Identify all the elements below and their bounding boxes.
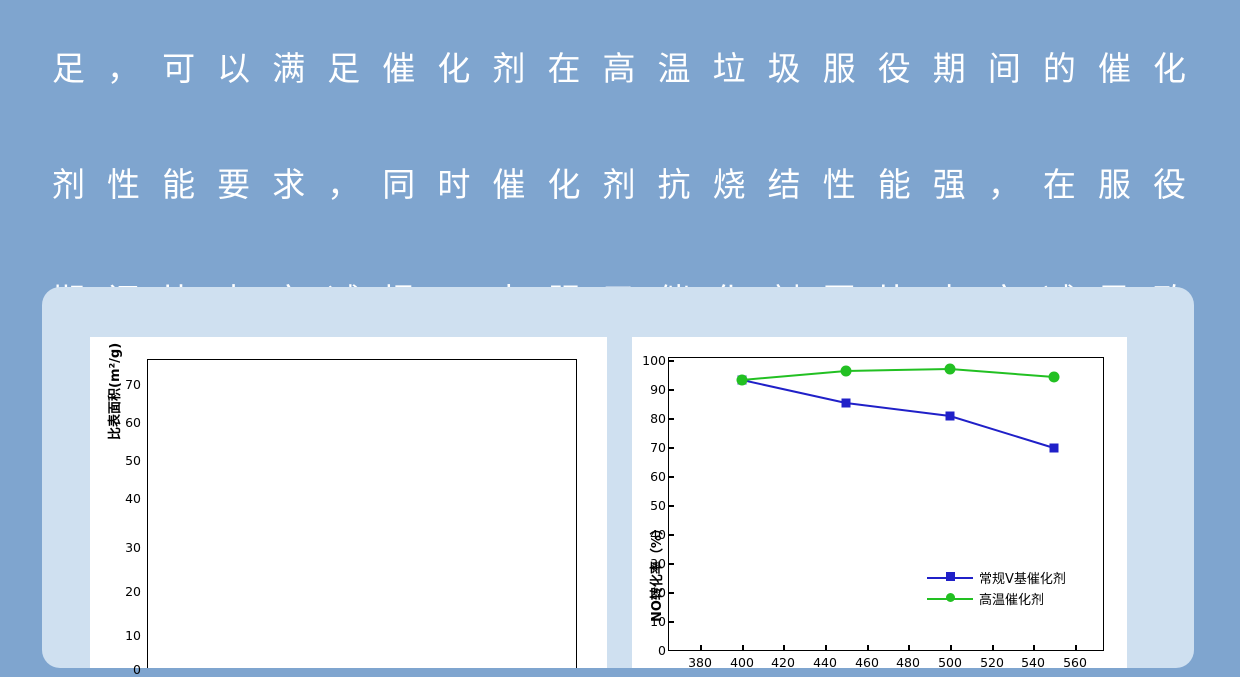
line-xtick-mark-480	[908, 645, 910, 651]
bar-ytick-20: 20	[115, 584, 141, 599]
line-ytick-40: 40	[642, 527, 666, 542]
line-xtick-mark-520	[992, 645, 994, 651]
line-xtick-mark-540	[1033, 645, 1035, 651]
line-ytick-100: 100	[642, 353, 666, 368]
line-tick-mark-40	[668, 534, 674, 536]
line-tick-mark-30	[668, 563, 674, 565]
line-ytick-10: 10	[642, 614, 666, 629]
line-ytick-20: 20	[642, 585, 666, 600]
line-xtick-mark-400	[742, 645, 744, 651]
line-ytick-80: 80	[642, 411, 666, 426]
legend-label-high-temp: 高温催化剂	[979, 589, 1044, 608]
line-tick-mark-100	[668, 360, 674, 362]
bar-ytick-40: 40	[115, 491, 141, 506]
legend-marker-square-icon	[946, 572, 955, 581]
legend-row-high-temp: 高温催化剂	[927, 589, 1102, 610]
line-tick-mark-20	[668, 592, 674, 594]
line-ytick-90: 90	[642, 382, 666, 397]
bar-chart-plot-frame	[147, 359, 577, 668]
paragraph-line-1: 足，可以满足催化剂在高温垃圾服役期间的催化	[0, 40, 1240, 98]
line-chart-legend: 常规V基催化剂 高温催化剂	[927, 568, 1102, 610]
line-tick-mark-50	[668, 505, 674, 507]
bar-chart-y-axis-label: 比表面积(m²/g)	[104, 240, 123, 440]
line-ytick-50: 50	[642, 498, 666, 513]
line-tick-mark-10	[668, 621, 674, 623]
bar-ytick-50: 50	[115, 453, 141, 468]
line-xtick-mark-500	[950, 645, 952, 651]
line-xtick-mark-420	[783, 645, 785, 651]
bar-ytick-10: 10	[115, 628, 141, 643]
line-tick-mark-90	[668, 389, 674, 391]
bar-ytick-70: 70	[115, 377, 141, 392]
line-xtick-mark-380	[700, 645, 702, 651]
bar-ytick-60: 60	[115, 415, 141, 430]
legend-marker-circle-icon	[946, 593, 955, 602]
line-tick-mark-80	[668, 418, 674, 420]
legend-row-regular: 常规V基催化剂	[927, 568, 1102, 589]
page-root: 足，可以满足催化剂在高温垃圾服役期间的催化 剂性能要求，同时催化剂抗烧结性能强，…	[0, 0, 1240, 668]
line-xtick-mark-440	[825, 645, 827, 651]
legend-label-regular: 常规V基催化剂	[979, 568, 1066, 587]
line-xtick-mark-460	[867, 645, 869, 651]
line-ytick-60: 60	[642, 469, 666, 484]
bar-ytick-0: 0	[115, 662, 141, 677]
line-ytick-30: 30	[642, 556, 666, 571]
bar-ytick-30: 30	[115, 540, 141, 555]
line-ytick-0: 0	[642, 643, 666, 658]
paragraph-line-2: 剂性能要求，同时催化剂抗烧结性能强，在服役	[0, 156, 1240, 214]
line-tick-mark-60	[668, 476, 674, 478]
line-xtick-mark-560	[1075, 645, 1077, 651]
line-ytick-70: 70	[642, 440, 666, 455]
line-tick-mark-70	[668, 447, 674, 449]
